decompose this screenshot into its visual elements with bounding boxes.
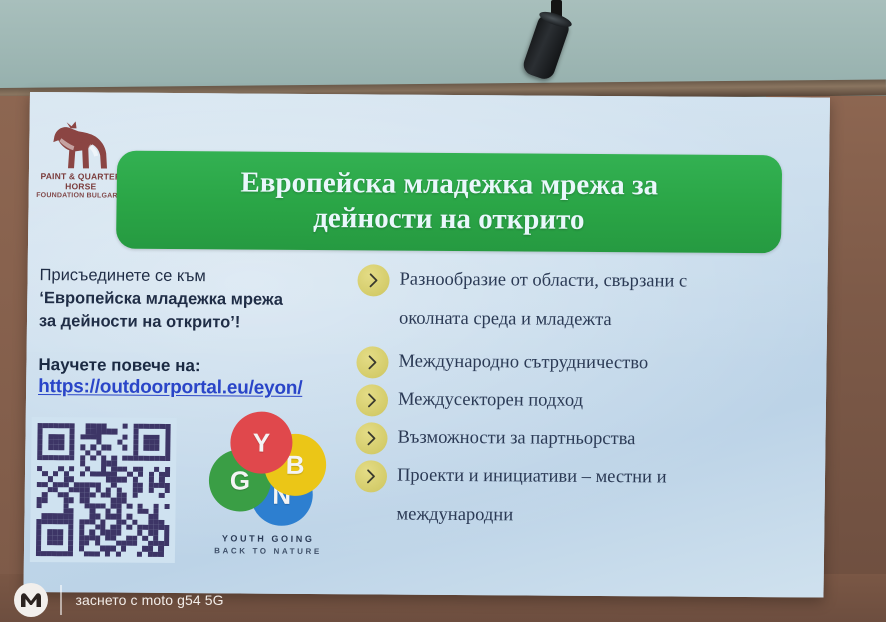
join-line-1: Присъединете се към bbox=[39, 264, 369, 289]
bullet-text: Възможности за партньорства bbox=[397, 421, 635, 452]
bullet-item: Проекти и инициативи – местни и bbox=[355, 458, 815, 495]
join-text-block: Присъединете се към ‘Европейска младежка… bbox=[39, 264, 370, 336]
photo-scene: PAINT & QUARTER HORSE FOUNDATION BULGARI… bbox=[0, 0, 886, 622]
left-column: Присъединете се към ‘Европейска младежка… bbox=[38, 264, 370, 401]
slide-surface: PAINT & QUARTER HORSE FOUNDATION BULGARI… bbox=[23, 92, 830, 598]
ygn-tagline-2: BACK TO NATURE bbox=[202, 546, 334, 556]
chevron-right-icon bbox=[355, 460, 387, 492]
camera-watermark: заснето с moto g54 5G bbox=[0, 578, 886, 622]
chevron-right-icon bbox=[356, 346, 388, 378]
bullet-text: Международно сътрудничество bbox=[398, 345, 648, 376]
title-line-1: Европейска младежка мрежа за bbox=[240, 166, 658, 201]
title-line-2: дейности на открито bbox=[313, 202, 585, 236]
page-title: Европейска младежка мрежа за дейности на… bbox=[224, 165, 675, 239]
portal-link[interactable]: https://outdoorportal.eu/eyon/ bbox=[38, 376, 368, 400]
ygn-circles: Y B G N bbox=[208, 411, 330, 530]
bullet-text: Междусекторен подход bbox=[398, 383, 583, 413]
bullet-continuation: околната среда и младежта bbox=[399, 307, 817, 334]
horse-icon bbox=[44, 120, 119, 173]
bullet-item: Международно сътрудничество bbox=[356, 344, 816, 381]
bullet-item: Разнообразие от области, свързани с bbox=[357, 262, 817, 299]
projection-screen: PAINT & QUARTER HORSE FOUNDATION BULGARI… bbox=[23, 92, 830, 598]
ygn-tagline-1: YOUTH GOING bbox=[202, 533, 334, 544]
bullet-item: Възможности за партньорства bbox=[355, 420, 815, 457]
join-line-2: ‘Европейска младежка мрежа bbox=[39, 287, 369, 312]
ygn-logo: Y B G N YOUTH GOING BACK TO NATURE bbox=[202, 411, 336, 556]
chevron-right-icon bbox=[357, 264, 389, 296]
chevron-right-icon bbox=[355, 422, 387, 454]
bullet-continuation: международни bbox=[396, 503, 814, 530]
watermark-divider bbox=[60, 585, 62, 615]
bullet-text: Проекти и инициативи – местни и bbox=[397, 459, 667, 490]
qr-code[interactable] bbox=[30, 417, 177, 563]
brand-line-2: FOUNDATION BULGARIA bbox=[33, 192, 129, 201]
motorola-logo-icon bbox=[14, 583, 48, 617]
brand-logo: PAINT & QUARTER HORSE FOUNDATION BULGARI… bbox=[33, 120, 130, 200]
learn-more-label: Научете повече на: bbox=[38, 355, 368, 377]
join-line-3: за дейности на открито’! bbox=[39, 310, 369, 335]
watermark-text: заснето с moto g54 5G bbox=[76, 592, 224, 608]
qr-grid bbox=[36, 423, 171, 557]
bullet-list: Разнообразие от области, свързани соколн… bbox=[354, 262, 818, 543]
bullet-item: Междусекторен подход bbox=[356, 382, 816, 419]
brand-line-1: PAINT & QUARTER HORSE bbox=[33, 172, 129, 192]
motorola-batwing-glyph bbox=[18, 587, 44, 613]
chevron-right-icon bbox=[356, 384, 388, 416]
title-banner: Европейска младежка мрежа за дейности на… bbox=[116, 151, 782, 254]
bullet-text: Разнообразие от области, свързани с bbox=[399, 263, 687, 294]
